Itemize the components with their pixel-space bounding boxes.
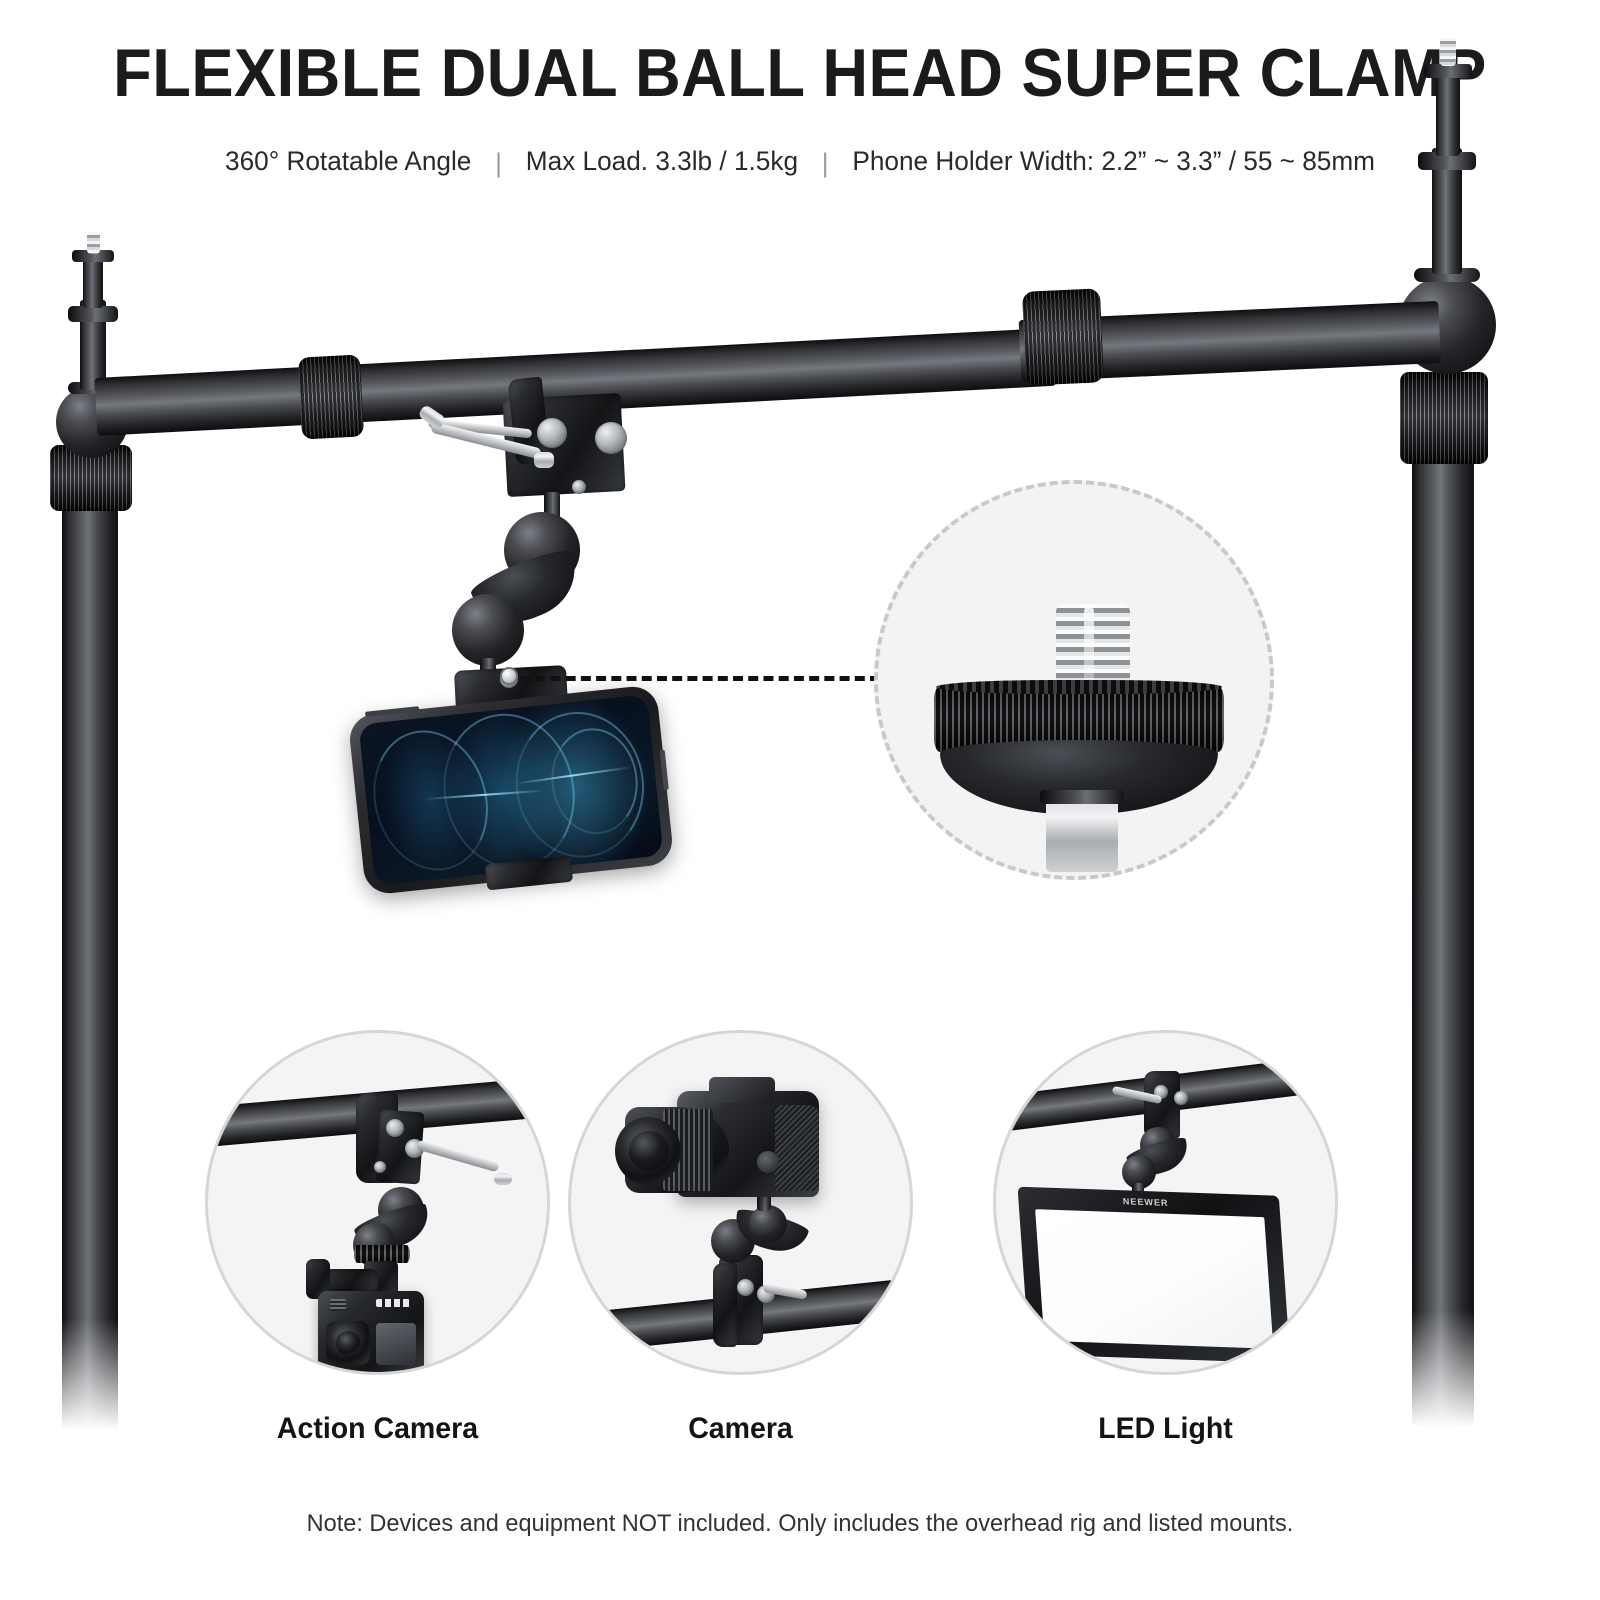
ball-head-lower-ball bbox=[452, 594, 524, 666]
detail-lower-shaft bbox=[1046, 796, 1118, 872]
ac-clamp-screw-3 bbox=[374, 1161, 386, 1173]
right-stand-pole bbox=[1412, 452, 1474, 1427]
phone-screen bbox=[358, 694, 663, 885]
detail-screw-highlight bbox=[1084, 606, 1094, 690]
right-spigot-cap bbox=[1424, 64, 1472, 78]
action-camera-lens-glass bbox=[336, 1331, 360, 1355]
action-camera-led-row bbox=[376, 1299, 410, 1307]
callout-leader-line bbox=[520, 676, 880, 681]
cam-clamp-jaw bbox=[713, 1263, 737, 1347]
led-clamp-screw-2 bbox=[1174, 1091, 1188, 1105]
feature-circle-camera bbox=[568, 1030, 913, 1375]
detail-knob-top-ridge bbox=[936, 680, 1222, 694]
phone-side-button bbox=[660, 750, 669, 790]
crossbar-left-coupler bbox=[298, 354, 364, 439]
left-spigot-thread bbox=[87, 232, 100, 254]
dslr-grip bbox=[775, 1105, 819, 1191]
super-clamp-screw-cap-right bbox=[595, 422, 627, 454]
spec-item-rotatable: 360° Rotatable Angle bbox=[225, 146, 471, 176]
ac-clamp-screw-1 bbox=[386, 1119, 404, 1137]
spec-line: 360° Rotatable Angle | Max Load. 3.3lb /… bbox=[24, 146, 1576, 177]
right-stand-lock-collar bbox=[1400, 372, 1488, 464]
feature-circle-action-camera bbox=[205, 1030, 550, 1375]
left-spigot-upper bbox=[83, 256, 103, 308]
led-panel-diffuser bbox=[1035, 1209, 1273, 1349]
page-title: FLEXIBLE DUAL BALL HEAD SUPER CLAMP bbox=[56, 34, 1544, 112]
super-clamp-screw-cap-left bbox=[537, 418, 567, 448]
spec-separator-1: | bbox=[495, 148, 502, 179]
disclaimer-note: Note: Devices and equipment NOT included… bbox=[16, 1510, 1584, 1538]
led-panel-brand: NEEWER bbox=[1122, 1196, 1168, 1208]
feature-label-led-light: LED Light bbox=[1002, 1412, 1330, 1446]
feature-circle-led-light: NEEWER bbox=[993, 1030, 1338, 1375]
screw-detail-callout bbox=[874, 480, 1274, 880]
right-spigot-thread bbox=[1440, 38, 1456, 66]
led-panel: NEEWER bbox=[1018, 1187, 1291, 1364]
dslr-prism-hump bbox=[709, 1077, 775, 1103]
feature-label-action-camera: Action Camera bbox=[214, 1412, 542, 1446]
action-camera-speaker-grille bbox=[330, 1299, 346, 1311]
phone-volume-button bbox=[365, 706, 419, 717]
left-spigot-flange bbox=[68, 306, 118, 322]
cam-clamp-screw-1 bbox=[737, 1279, 754, 1296]
spec-item-max-load: Max Load. 3.3lb / 1.5kg bbox=[526, 146, 798, 176]
feature-label-camera: Camera bbox=[577, 1412, 905, 1446]
ac-clamp-lever-tip bbox=[494, 1173, 512, 1185]
action-camera-screen bbox=[376, 1323, 416, 1365]
spec-separator-2: | bbox=[822, 148, 829, 179]
right-spigot-upper bbox=[1436, 72, 1460, 156]
crossbar-coupler bbox=[1022, 288, 1104, 385]
super-clamp-small-bolt bbox=[572, 480, 586, 494]
callout-anchor-dot bbox=[500, 667, 518, 685]
ac-clamp-lever bbox=[416, 1140, 500, 1173]
left-stand-pole bbox=[62, 500, 118, 1430]
infographic-canvas: FLEXIBLE DUAL BALL HEAD SUPER CLAMP 360°… bbox=[0, 0, 1600, 1600]
detail-shaft-collar bbox=[1040, 790, 1124, 804]
spec-item-holder-width: Phone Holder Width: 2.2” ~ 3.3” / 55 ~ 8… bbox=[852, 146, 1375, 176]
dslr-lens-glass bbox=[629, 1131, 669, 1171]
super-clamp-lever-knob bbox=[534, 452, 554, 468]
dslr-mode-dial bbox=[757, 1151, 779, 1173]
